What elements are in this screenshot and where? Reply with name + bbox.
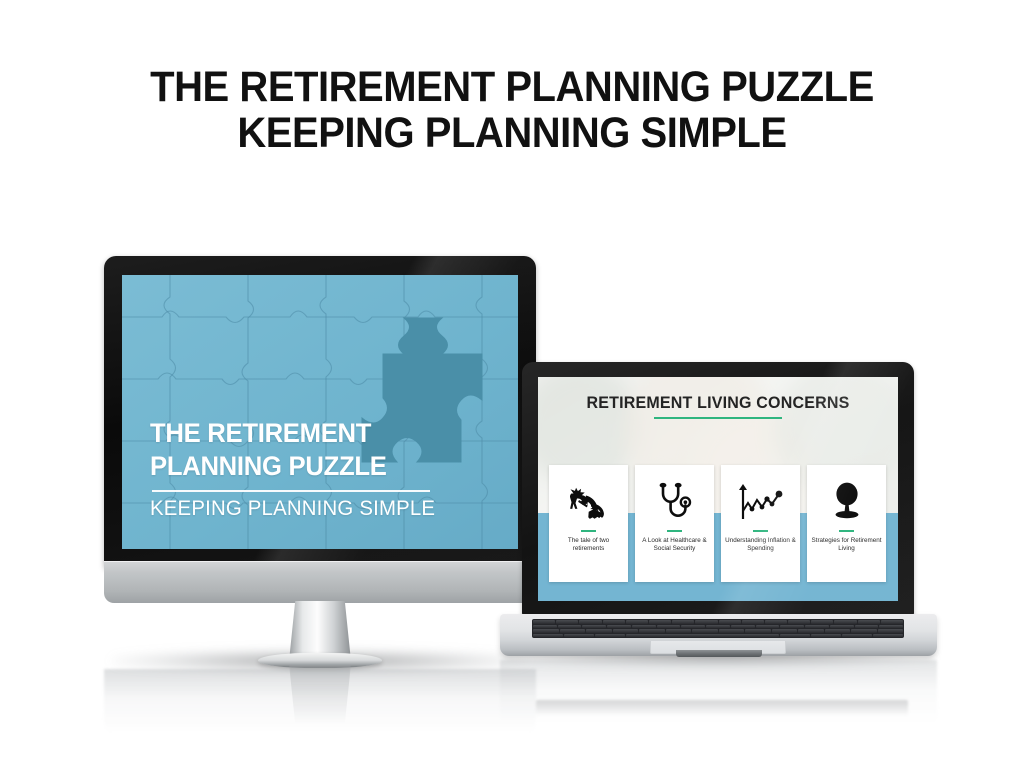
key bbox=[695, 620, 717, 624]
key bbox=[533, 634, 563, 638]
key bbox=[672, 620, 694, 624]
key bbox=[878, 629, 904, 633]
line-chart-arrow-icon bbox=[738, 474, 784, 528]
key bbox=[805, 625, 829, 629]
concern-card[interactable]: A Look at Healthcare & Social Security bbox=[635, 465, 714, 582]
key bbox=[798, 629, 824, 633]
key bbox=[881, 620, 903, 624]
key bbox=[825, 629, 851, 633]
key bbox=[842, 634, 872, 638]
key bbox=[834, 620, 856, 624]
key bbox=[607, 625, 631, 629]
key bbox=[765, 620, 787, 624]
card-divider bbox=[753, 530, 768, 532]
key bbox=[873, 634, 903, 638]
key bbox=[811, 620, 833, 624]
key bbox=[564, 634, 594, 638]
page-title-line-1: THE RETIREMENT PLANNING PUZZLE bbox=[150, 63, 874, 111]
key bbox=[780, 625, 804, 629]
monitor-stand-reflection bbox=[289, 664, 351, 724]
card-label: The tale of two retirements bbox=[549, 537, 628, 554]
laptop-keyboard-reflection bbox=[536, 700, 908, 716]
key bbox=[533, 625, 557, 629]
key bbox=[879, 625, 903, 629]
laptop-reflection bbox=[500, 660, 937, 730]
key bbox=[756, 625, 780, 629]
concern-card[interactable]: Strategies for Retirement Living bbox=[807, 465, 886, 582]
key bbox=[719, 629, 745, 633]
spacebar-key bbox=[626, 634, 780, 638]
presentation-mockup-scene: THE RETIREMENT PLANNING PUZZLE KEEPING P… bbox=[0, 0, 1024, 768]
card-divider bbox=[667, 530, 682, 532]
monitor-slide-text: THE RETIREMENT PLANNING PUZZLE KEEPING P… bbox=[150, 417, 480, 521]
concern-card[interactable]: Understanding Inflation & Spending bbox=[721, 465, 800, 582]
key bbox=[586, 629, 612, 633]
stethoscope-icon bbox=[656, 474, 694, 528]
key bbox=[731, 625, 755, 629]
keyboard-row bbox=[533, 620, 903, 624]
key bbox=[681, 625, 705, 629]
key bbox=[780, 634, 810, 638]
key bbox=[657, 625, 681, 629]
key bbox=[649, 620, 671, 624]
laptop-lid: RETIREMENT LIVING CONCERNS bbox=[522, 362, 914, 616]
card-label: Understanding Inflation & Spending bbox=[721, 537, 800, 554]
desktop-monitor: THE RETIREMENT PLANNING PUZZLE KEEPING P… bbox=[104, 256, 536, 568]
key bbox=[560, 629, 586, 633]
laptop-screen[interactable]: RETIREMENT LIVING CONCERNS bbox=[538, 377, 898, 601]
page-title: THE RETIREMENT PLANNING PUZZLE KEEPING P… bbox=[36, 64, 988, 156]
bull-and-bear-icon bbox=[567, 474, 611, 528]
key bbox=[533, 620, 555, 624]
card-label: Strategies for Retirement Living bbox=[807, 537, 886, 554]
key bbox=[613, 629, 639, 633]
key bbox=[603, 620, 625, 624]
key bbox=[742, 620, 764, 624]
laptop: RETIREMENT LIVING CONCERNS bbox=[500, 362, 940, 662]
key bbox=[772, 629, 798, 633]
card-divider bbox=[581, 530, 596, 532]
laptop-slide-title-divider bbox=[654, 417, 782, 419]
key bbox=[811, 634, 841, 638]
key bbox=[626, 620, 648, 624]
key bbox=[595, 634, 625, 638]
key bbox=[788, 620, 810, 624]
key bbox=[706, 625, 730, 629]
key bbox=[639, 629, 665, 633]
monitor-stand-neck bbox=[289, 601, 351, 661]
monitor-subtitle: KEEPING PLANNING SIMPLE bbox=[150, 497, 470, 521]
monitor-title-line-2: PLANNING PUZZLE bbox=[150, 450, 464, 483]
key bbox=[855, 625, 879, 629]
key bbox=[579, 620, 601, 624]
key bbox=[632, 625, 656, 629]
laptop-hinge bbox=[676, 650, 762, 657]
laptop-slide-title: RETIREMENT LIVING CONCERNS bbox=[543, 394, 892, 413]
page-title-line-2: KEEPING PLANNING SIMPLE bbox=[36, 110, 988, 156]
keyboard-row bbox=[533, 629, 903, 633]
monitor-stand-base bbox=[258, 653, 382, 668]
monitor-title-divider bbox=[152, 490, 430, 492]
key bbox=[556, 620, 578, 624]
key bbox=[830, 625, 854, 629]
key bbox=[533, 629, 559, 633]
concern-card-list: The tale of two retirements bbox=[549, 465, 887, 582]
monitor-screen[interactable]: THE RETIREMENT PLANNING PUZZLE KEEPING P… bbox=[122, 275, 518, 549]
monitor-reflection bbox=[104, 669, 536, 743]
laptop-keyboard[interactable] bbox=[532, 619, 904, 638]
key bbox=[582, 625, 606, 629]
golf-ball-tee-icon bbox=[828, 474, 866, 528]
card-label: A Look at Healthcare & Social Security bbox=[635, 537, 714, 554]
key bbox=[719, 620, 741, 624]
monitor-title-line-1: THE RETIREMENT bbox=[150, 417, 464, 450]
card-divider bbox=[839, 530, 854, 532]
keyboard-row bbox=[533, 625, 903, 629]
key bbox=[745, 629, 771, 633]
key bbox=[858, 620, 880, 624]
key bbox=[692, 629, 718, 633]
keyboard-row bbox=[533, 634, 903, 638]
key bbox=[666, 629, 692, 633]
concern-card[interactable]: The tale of two retirements bbox=[549, 465, 628, 582]
key bbox=[851, 629, 877, 633]
key bbox=[558, 625, 582, 629]
monitor-chin bbox=[104, 561, 536, 603]
